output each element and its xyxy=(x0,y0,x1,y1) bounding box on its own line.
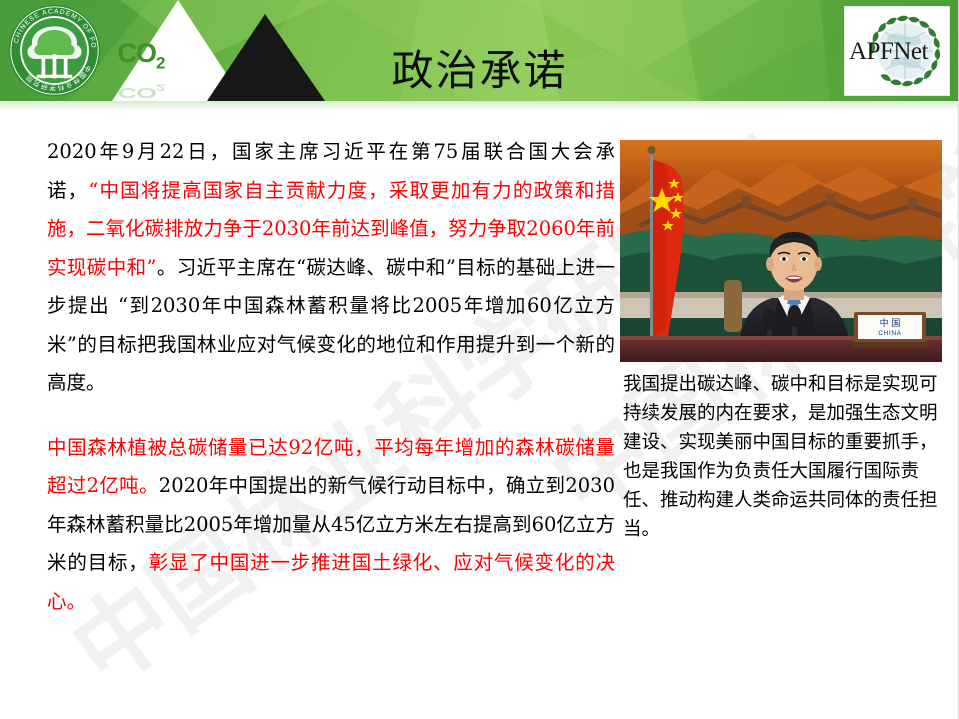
photo-graphic: 中 国 CHINA xyxy=(620,140,942,362)
paragraph-1: 2020年9月22日，国家主席习近平在第75届联合国大会承诺，“中国将提高国家自… xyxy=(47,133,615,403)
photo-caption: 我国提出碳达峰、碳中和目标是实现可持续发展的内在要求，是加强生态文明建设、实现美… xyxy=(623,370,945,544)
apfnet-logo: APFNet xyxy=(844,6,950,96)
paragraph-2: 中国森林植被总碳储量已达92亿吨，平均每年增加的森林碳储量超过2亿吨。2020年… xyxy=(47,429,615,622)
slide-header-banner: CHINESE ACADEMY OF FORESTRY 中国林业科学研究院 CO… xyxy=(0,0,959,101)
body-text-column: 2020年9月22日，国家主席习近平在第75届联合国大会承诺，“中国将提高国家自… xyxy=(47,133,615,621)
country-nameplate: 中 国 CHINA xyxy=(852,312,928,347)
page-title: 政治承诺 xyxy=(0,40,959,101)
header-reflection xyxy=(0,101,959,110)
slide-root: CHINESE ACADEMY OF FORESTRY 中国林业科学研究院 CO… xyxy=(0,0,959,719)
apfnet-label: APFNet xyxy=(849,38,928,66)
svg-text:中 国: 中 国 xyxy=(880,317,901,329)
svg-text:CHINA: CHINA xyxy=(878,330,901,337)
xi-jinping-un-address-photo: 中 国 CHINA xyxy=(620,140,942,362)
